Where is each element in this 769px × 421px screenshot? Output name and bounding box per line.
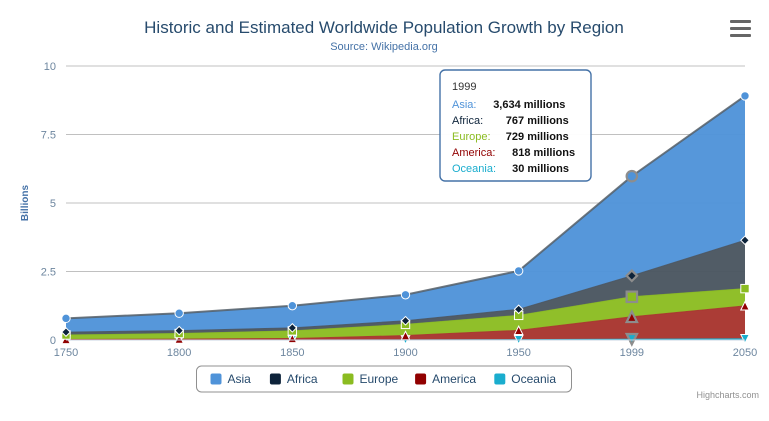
legend-swatch-africa: [270, 374, 281, 385]
legend[interactable]: AsiaAfricaEuropeAmericaOceania: [197, 366, 572, 392]
highcharts-credit[interactable]: Highcharts.com: [696, 390, 759, 400]
data-point-asia-1999[interactable]: [627, 171, 637, 181]
data-point-asia-1800[interactable]: [175, 309, 183, 317]
hamburger-bar-1: [730, 20, 751, 23]
data-point-asia-1850[interactable]: [288, 301, 296, 309]
legend-swatch-america: [415, 374, 426, 385]
hamburger-bar-2: [730, 27, 751, 30]
data-point-asia-2050[interactable]: [741, 92, 749, 100]
data-point-asia-1950[interactable]: [514, 267, 522, 275]
marker-circle: [175, 309, 183, 317]
marker-circle: [288, 301, 296, 309]
tooltip-row-value-africa: 767 millions: [506, 115, 569, 127]
marker-circle: [741, 92, 749, 100]
tooltip-row-value-europe: 729 millions: [506, 131, 569, 143]
legend-label-africa: Africa: [287, 372, 318, 386]
chart-svg: Historic and Estimated Worldwide Populat…: [0, 0, 769, 416]
legend-item-africa[interactable]: Africa: [270, 372, 318, 386]
legend-item-america[interactable]: America: [415, 372, 476, 386]
tooltip-row-value-asia: 3,634 millions: [493, 99, 565, 111]
legend-swatch-oceania: [494, 374, 505, 385]
marker-circle: [627, 171, 637, 181]
x-axis-tick-label-1750: 1750: [54, 347, 78, 359]
page-title: Historic and Estimated Worldwide Populat…: [144, 18, 624, 37]
x-axis-tick-label-1800: 1800: [167, 347, 191, 359]
marker-square: [741, 284, 749, 292]
tooltip-row-name-oceania: Oceania:: [452, 163, 496, 175]
tooltip-row-name-asia: Asia:: [452, 99, 476, 111]
hamburger-bar-3: [730, 34, 751, 37]
y-axis-tick-label: 10: [44, 61, 56, 73]
tooltip-row-value-america: 818 millions: [512, 147, 575, 159]
legend-item-asia[interactable]: Asia: [211, 372, 252, 386]
data-point-asia-1900[interactable]: [401, 291, 409, 299]
legend-item-oceania[interactable]: Oceania: [494, 372, 556, 386]
tooltip-row-value-oceania: 30 millions: [512, 163, 569, 175]
marker-circle: [62, 314, 70, 322]
legend-label-america: America: [432, 372, 476, 386]
marker-circle: [401, 291, 409, 299]
legend-label-europe: Europe: [360, 372, 399, 386]
marker-circle: [514, 267, 522, 275]
x-axis-tick-label-1999: 1999: [620, 347, 644, 359]
tooltip-header: 1999: [452, 81, 476, 93]
x-axis-tick-label-2050: 2050: [733, 347, 757, 359]
chart-subtitle: Source: Wikipedia.org: [330, 41, 438, 53]
x-axis-tick-label-1900: 1900: [393, 347, 417, 359]
tooltip: 1999Asia:3,634 millionsAfrica:767 millio…: [440, 70, 591, 181]
legend-label-oceania: Oceania: [511, 372, 556, 386]
legend-swatch-europe: [343, 374, 354, 385]
y-axis-tick-label: 2.5: [41, 267, 56, 279]
tooltip-row-name-america: America:: [452, 147, 495, 159]
tooltip-row-name-africa: Africa:: [452, 115, 483, 127]
hamburger-menu-icon[interactable]: [730, 20, 751, 37]
data-point-asia-1750[interactable]: [62, 314, 70, 322]
legend-swatch-asia: [211, 374, 222, 385]
legend-item-europe[interactable]: Europe: [343, 372, 399, 386]
data-point-oceania-1999[interactable]: [627, 334, 637, 344]
marker-triangle-down: [627, 334, 637, 344]
y-axis-title: Billions: [20, 185, 31, 222]
data-point-europe-1999[interactable]: [627, 292, 637, 302]
y-axis-tick-label: 0: [50, 335, 56, 347]
data-point-europe-2050[interactable]: [741, 284, 749, 292]
tooltip-row-name-europe: Europe:: [452, 131, 491, 143]
y-axis-tick-label: 5: [50, 198, 56, 210]
marker-square: [627, 292, 637, 302]
x-axis-tick-label-1850: 1850: [280, 347, 304, 359]
legend-label-asia: Asia: [228, 372, 252, 386]
y-axis-tick-label: 7.5: [41, 130, 56, 142]
x-axis-tick-label-1950: 1950: [506, 347, 530, 359]
series-areas: [66, 96, 745, 340]
highcharts-container[interactable]: Historic and Estimated Worldwide Populat…: [0, 0, 769, 416]
